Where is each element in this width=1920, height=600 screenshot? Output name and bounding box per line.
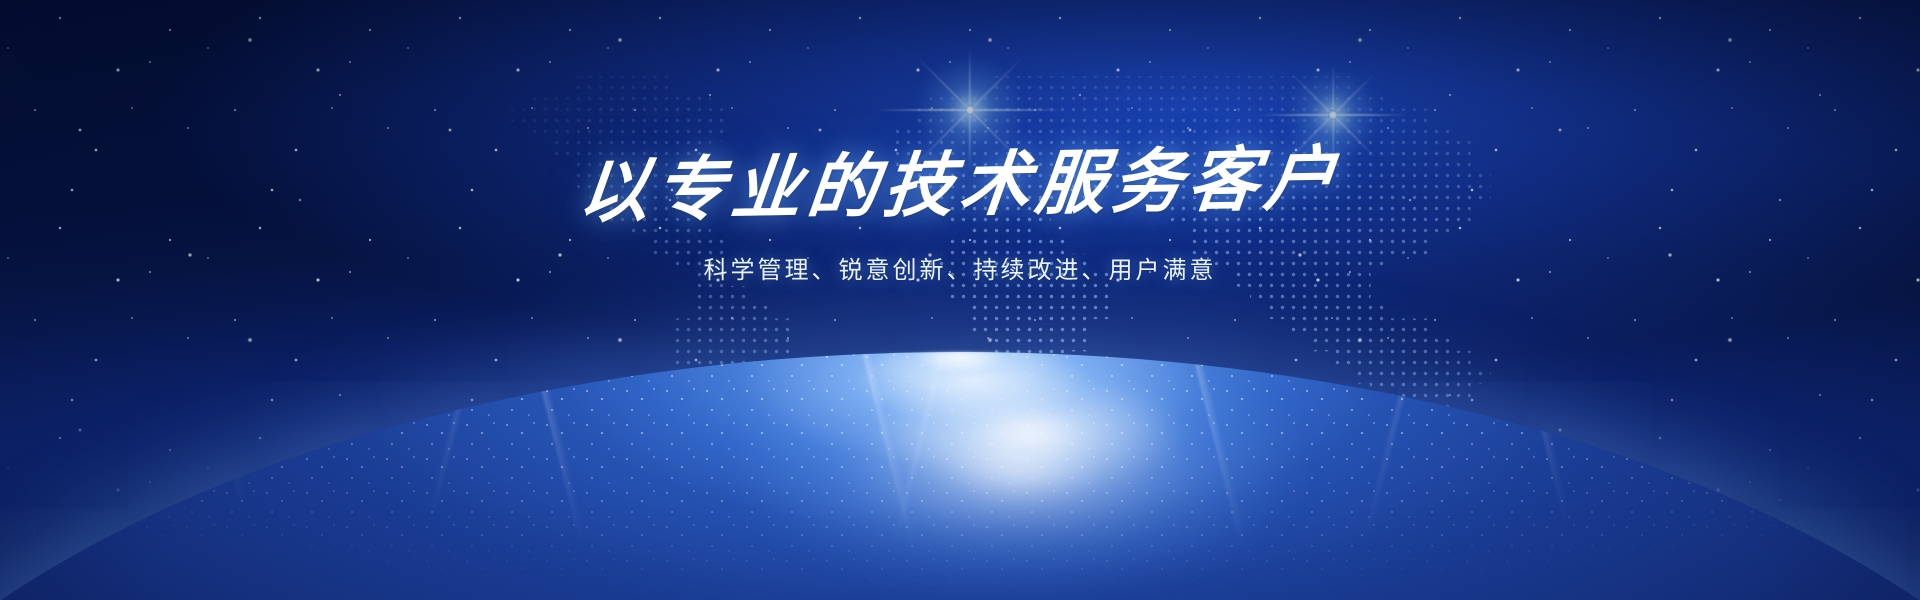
banner-content: 以专业的技术服务客户 科学管理、锐意创新、持续改进、用户满意: [0, 150, 1920, 285]
vignette-overlay: [0, 0, 1920, 600]
banner-subtitle: 科学管理、锐意创新、持续改进、用户满意: [0, 250, 1920, 285]
hero-banner: 以专业的技术服务客户 科学管理、锐意创新、持续改进、用户满意: [0, 0, 1920, 600]
